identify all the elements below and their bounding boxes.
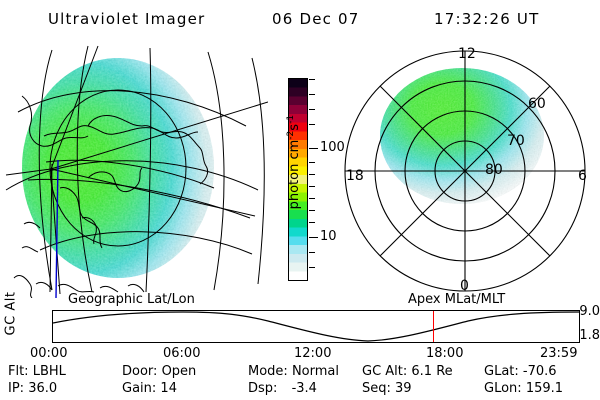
colorbar-tick-100 [309, 148, 318, 149]
colorbar-tick [309, 109, 315, 110]
colorbar-unit-mid: s [287, 124, 302, 131]
timeline-y-axis-label: GC Alt [4, 290, 19, 338]
status-glat-value: -70.6 [523, 364, 557, 379]
colorbar-tick [309, 162, 315, 163]
status-gc-alt-value: 6.1 Re [411, 364, 452, 379]
mlt-spokes [345, 51, 585, 291]
status-glon-label: GLon: [484, 381, 522, 396]
colorbar-unit-main: photon cm [287, 140, 302, 210]
status-ip: IP: 36.0 [8, 381, 57, 396]
status-gc-alt: GC Alt: 6.1 Re [362, 364, 453, 379]
mlat-label-70: 70 [507, 133, 525, 149]
timeline-plot-frame[interactable] [52, 310, 580, 343]
mlt-label-12: 12 [458, 46, 476, 62]
geographic-image-plot [0, 40, 268, 298]
status-gain: Gain: 14 [122, 381, 177, 396]
colorbar-tick [309, 210, 315, 211]
status-dsp-value: -3.4 [282, 381, 317, 396]
timeline-x-tick-1: 06:00 [163, 346, 200, 361]
status-door: Door: Open [122, 364, 196, 379]
mlt-label-18: 18 [346, 168, 364, 184]
timeline-x-tick-3: 18:00 [426, 346, 463, 361]
mlat-label-80: 80 [485, 162, 503, 178]
status-dsp: Dsp: -3.4 [248, 381, 317, 396]
timeline-x-tick-2: 12:00 [294, 346, 331, 361]
status-door-label: Door: [122, 364, 157, 379]
colorbar-tick [309, 222, 315, 223]
status-door-value: Open [162, 364, 197, 379]
status-glat: GLat: -70.6 [484, 364, 557, 379]
status-seq-value: 39 [395, 381, 412, 396]
status-flight: Flt: LBHL [8, 364, 66, 379]
colorbar-unit-exp1: -2 [286, 131, 296, 140]
magnetic-dial-panel: 12 18 6 0 60 70 80 [330, 40, 600, 298]
status-gain-label: Gain: [122, 381, 156, 396]
page-title: Ultraviolet Imager [48, 10, 205, 28]
status-flight-label: Flt: [8, 364, 29, 379]
colorbar-tick [309, 267, 315, 268]
timeline-x-tick-4: 23:59 [540, 346, 577, 361]
colorbar-tick-10 [309, 237, 318, 238]
status-flight-value: LBHL [33, 364, 66, 379]
colorbar-tick [309, 252, 315, 253]
colorbar-tick [309, 174, 315, 175]
colorbar-axis-title: photon cm-2s-1 [286, 67, 302, 257]
status-glat-label: GLat: [484, 364, 519, 379]
mlt-label-6: 6 [578, 168, 587, 184]
status-ip-value: 36.0 [28, 381, 57, 396]
status-mode-value: Normal [292, 364, 339, 379]
status-gc-alt-label: GC Alt: [362, 364, 407, 379]
magnetic-dial-plot: 12 18 6 0 60 70 80 [330, 40, 600, 298]
gc-altitude-curve [53, 311, 579, 342]
status-dsp-label: Dsp: [248, 381, 277, 396]
status-seq: Seq: 39 [362, 381, 412, 396]
status-glon: GLon: 159.1 [484, 381, 563, 396]
colorbar-tick [309, 186, 315, 187]
timeline-x-tick-0: 00:00 [30, 346, 67, 361]
geographic-image-panel [0, 40, 268, 298]
colorbar-unit-exp2: -1 [286, 115, 296, 124]
status-glon-value: 159.1 [526, 381, 563, 396]
colorbar-tick [309, 94, 315, 95]
colorbar-tick [309, 79, 315, 80]
timeline-time-cursor[interactable] [433, 311, 434, 342]
status-gain-value: 14 [160, 381, 177, 396]
status-mode-label: Mode: [248, 364, 288, 379]
colorbar-tick [309, 124, 315, 125]
header: Ultraviolet Imager 06 Dec 07 17:32:26 UT [0, 6, 600, 32]
observation-date: 06 Dec 07 [272, 10, 360, 28]
status-seq-label: Seq: [362, 381, 391, 396]
observation-time: 17:32:26 UT [434, 10, 539, 28]
status-mode: Mode: Normal [248, 364, 339, 379]
status-ip-label: IP: [8, 381, 24, 396]
mlat-label-60: 60 [528, 96, 546, 112]
colorbar-tick [309, 198, 315, 199]
status-bar: Flt: LBHL Door: Open Mode: Normal GC Alt… [0, 362, 600, 400]
orbit-timeline-panel: GC Alt 9.0 1.8 00:00 06:00 12:00 18:00 2… [0, 300, 600, 356]
